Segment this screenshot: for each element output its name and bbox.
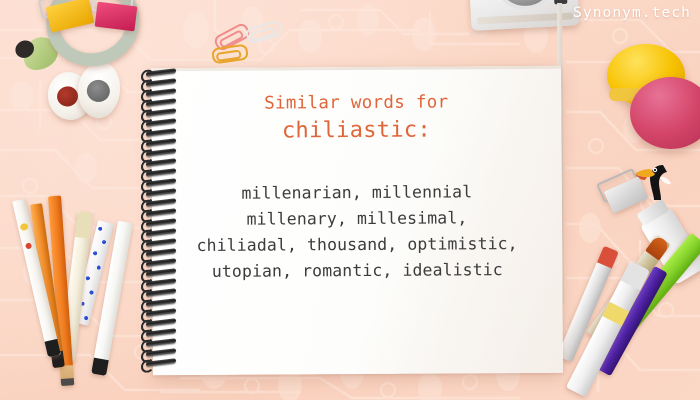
- binder-clip-pink-body: [95, 2, 138, 32]
- synonym-line: millenary, millesimal,: [152, 204, 562, 233]
- pencil-print-dot-yellow: [20, 223, 29, 232]
- pencil-orange-long-graphite: [61, 378, 74, 386]
- page-headline: Similar words for: [151, 93, 561, 114]
- eraser-grey-dot-center: [85, 78, 111, 103]
- notebook-content: Similar words for chiliastic: millenaria…: [151, 66, 563, 375]
- pencil-print-dot-red: [25, 242, 32, 249]
- pen-white-black-tip-end: [91, 358, 109, 376]
- pen-cream-cap: [75, 211, 93, 239]
- synonym-line: millenarian, millennial: [152, 178, 562, 207]
- synonym-line: chiliadal, thousand, optimistic,: [152, 230, 562, 259]
- eraser-red-dot-center: [55, 84, 80, 108]
- binder-clip-pink: [95, 2, 138, 32]
- synonym-line: utopian, romantic, idealistic: [152, 256, 562, 285]
- screenshot-canvas: Similar words for chiliastic: millenaria…: [0, 0, 700, 400]
- site-watermark: Synonym.tech: [573, 5, 691, 21]
- page-term: chiliastic:: [151, 118, 561, 145]
- synonym-list: millenarian, millennialmillenary, milles…: [152, 178, 563, 285]
